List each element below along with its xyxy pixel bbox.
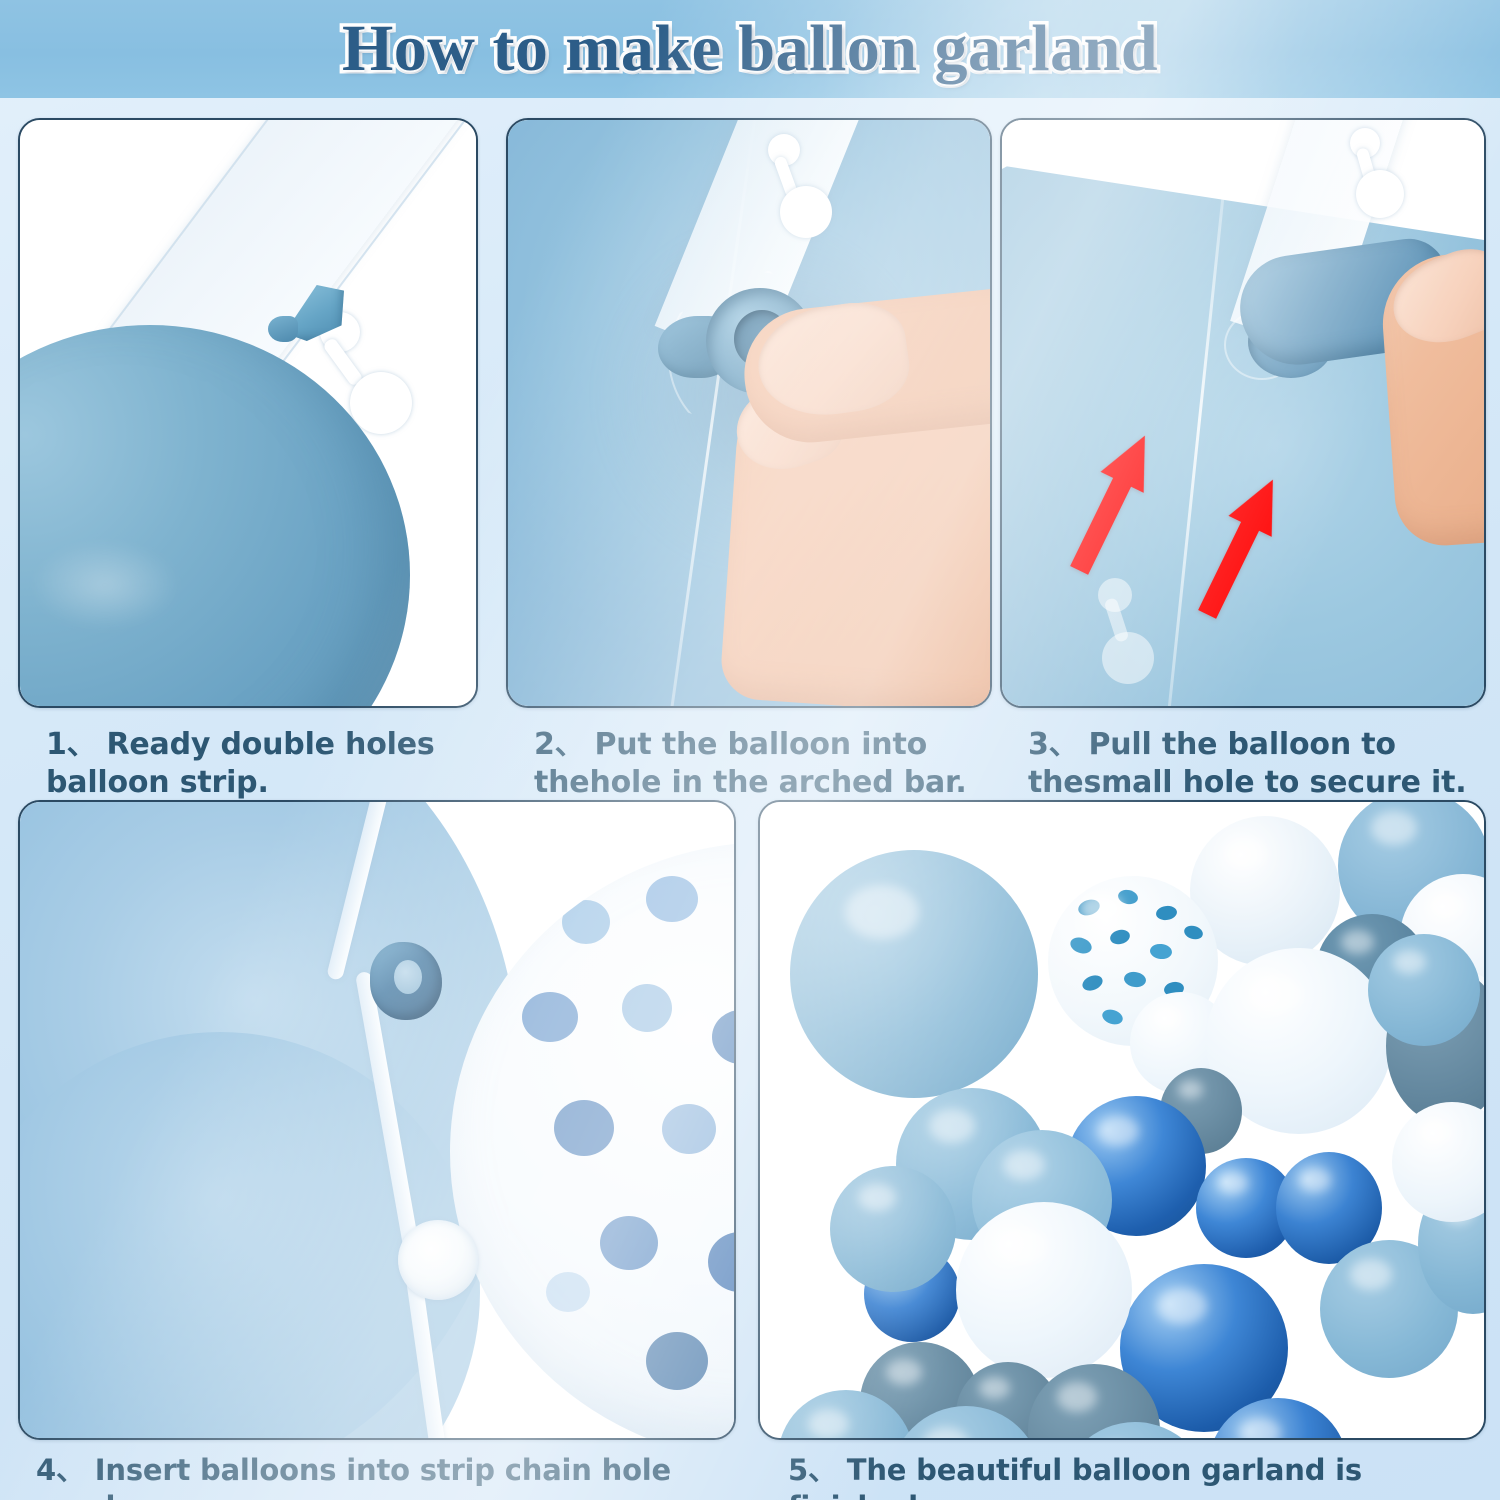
confetti-dot bbox=[562, 900, 610, 944]
strip-big-hole bbox=[780, 186, 832, 238]
confetti-dot bbox=[1076, 897, 1102, 918]
confetti-dot bbox=[1117, 888, 1139, 906]
white-balloon-large bbox=[956, 1202, 1132, 1378]
step-text: Pull the balloon to thesmall hole to sec… bbox=[1028, 727, 1466, 800]
step-4-caption: 4、Insert balloons into strip chain hole … bbox=[36, 1452, 736, 1500]
step-5-photo bbox=[760, 802, 1484, 1438]
balloon-knot-hole bbox=[394, 960, 422, 994]
step-4-panel bbox=[18, 800, 736, 1440]
balloon-knot-tail bbox=[268, 316, 298, 342]
confetti-dot bbox=[662, 1104, 716, 1154]
step-4-photo bbox=[20, 802, 734, 1438]
confetti-dot bbox=[1109, 928, 1132, 946]
step-number: 4、 bbox=[36, 1453, 85, 1487]
page-title: How to make ballon garland bbox=[342, 11, 1158, 87]
confetti-dot bbox=[554, 1100, 614, 1156]
confetti-dot bbox=[1183, 924, 1205, 942]
step-2-caption: 2、Put the balloon into thehole in the ar… bbox=[534, 726, 984, 803]
step-text: Ready double holes balloon strip. bbox=[46, 727, 435, 800]
matte-blue-balloon-large bbox=[790, 850, 1038, 1098]
step-number: 3、 bbox=[1028, 727, 1078, 762]
confetti-dot bbox=[546, 1272, 590, 1312]
step-2-panel bbox=[506, 118, 992, 708]
step-1-caption: 1、Ready double holes balloon strip. bbox=[46, 726, 476, 803]
step-text: Insert balloons into strip chain hole on… bbox=[36, 1453, 671, 1500]
confetti-dot bbox=[600, 1216, 658, 1270]
balloon-highlight bbox=[30, 540, 180, 630]
strip-grommet bbox=[398, 1220, 478, 1300]
confetti-dot bbox=[1155, 905, 1178, 922]
step-number: 5、 bbox=[788, 1453, 837, 1487]
step-3-caption: 3、Pull the balloon to thesmall hole to s… bbox=[1028, 726, 1478, 803]
matte-blue-balloon bbox=[1368, 934, 1480, 1046]
step-3-panel bbox=[1000, 118, 1486, 708]
strip-big-hole bbox=[350, 372, 412, 434]
confetti-dot bbox=[646, 1332, 708, 1390]
infographic-page: How to make ballon garland bbox=[0, 0, 1500, 1500]
confetti-dot bbox=[1068, 935, 1094, 957]
step-5-caption: 5、The beautiful balloon garland is finis… bbox=[788, 1452, 1488, 1500]
step-3-photo bbox=[1002, 120, 1484, 706]
step-text: The beautiful balloon garland is finishe… bbox=[788, 1453, 1362, 1500]
confetti-dot bbox=[646, 876, 698, 922]
step-1-panel bbox=[18, 118, 478, 708]
step-1-photo bbox=[20, 120, 476, 706]
step-number: 1、 bbox=[46, 727, 96, 762]
confetti-dot bbox=[708, 1232, 734, 1292]
confetti-dot bbox=[522, 992, 578, 1042]
confetti-dot bbox=[1100, 1007, 1124, 1027]
header-banner: How to make ballon garland bbox=[0, 0, 1500, 98]
confetti-dot bbox=[1149, 943, 1172, 960]
confetti-dot bbox=[622, 984, 672, 1032]
step-number: 2、 bbox=[534, 727, 584, 762]
step-2-photo bbox=[508, 120, 990, 706]
strip-big-hole bbox=[1356, 170, 1404, 218]
matte-blue-balloon bbox=[830, 1166, 956, 1292]
confetti-dot bbox=[1123, 971, 1147, 989]
step-5-panel bbox=[758, 800, 1486, 1440]
confetti-dot bbox=[712, 1010, 734, 1064]
strip-big-hole-ghost bbox=[1102, 632, 1154, 684]
step-text: Put the balloon into thehole in the arch… bbox=[534, 727, 967, 800]
confetti-dot bbox=[1080, 973, 1105, 994]
